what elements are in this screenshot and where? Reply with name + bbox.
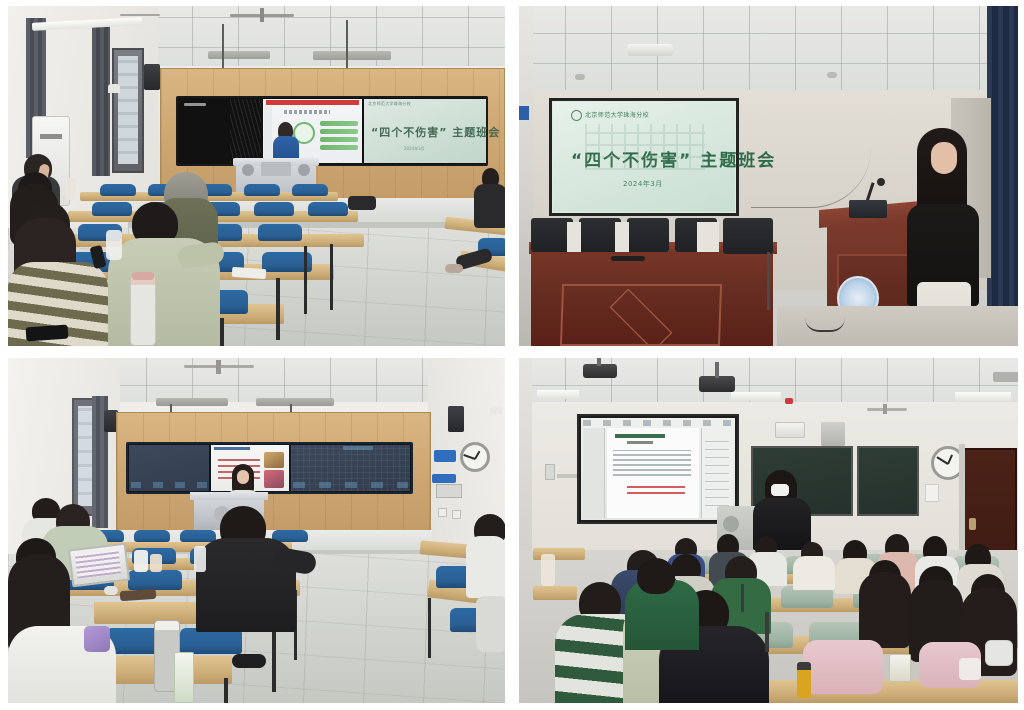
- ac-vent: [40, 134, 62, 139]
- wall-notice: [925, 484, 939, 502]
- screen-right-titlebar: [343, 446, 373, 450]
- desk-leg: [304, 246, 307, 314]
- emergency-light-icon: [785, 398, 793, 404]
- screen-left-arc: [230, 99, 261, 163]
- doc-sidebar-right-rows: [705, 436, 729, 506]
- wall-switch-2[interactable]: [452, 510, 461, 519]
- wall-box: [436, 484, 462, 498]
- chair: [180, 530, 216, 542]
- left-edge-sign: [519, 106, 529, 120]
- photo-top-right[interactable]: 北京师范大学珠海分校 “四个不伤害” 主题班会 2024年3月: [519, 6, 1018, 346]
- shoe: [232, 654, 266, 668]
- slide-image-thumb: [264, 452, 284, 468]
- cup: [134, 550, 148, 572]
- chair: [258, 224, 302, 241]
- screen-right-taskbar: [293, 482, 408, 488]
- ceiling-light-bar: [156, 398, 228, 406]
- ceiling-fan-icon-2: [993, 372, 1018, 382]
- speaker-podium-scene: 北京师范大学珠海分校 “四个不伤害” 主题班会 2024年3月: [519, 6, 1018, 346]
- chair-pad: [567, 222, 581, 252]
- ceiling-light-panel: [731, 392, 781, 401]
- slide-header: 北京师范大学珠海分校: [585, 110, 649, 119]
- desk-leg-2: [741, 584, 744, 612]
- doc-sidebar-left: [583, 428, 605, 518]
- speaker-icon-right: [448, 406, 464, 432]
- laptop-icon: [849, 200, 887, 218]
- presenter-face: [237, 470, 249, 484]
- chair: [128, 570, 182, 590]
- bottle: [797, 662, 811, 698]
- milk-carton: [174, 652, 194, 703]
- instructor-mask: [771, 484, 789, 496]
- water-bottle: [130, 274, 156, 346]
- curtain-left-2: [92, 26, 110, 176]
- wall-sign-blue-2: [432, 474, 456, 483]
- doc-title: [615, 434, 665, 438]
- cup-2: [150, 554, 162, 572]
- slide-header-bar: [266, 100, 359, 105]
- desk-leg-right: [428, 598, 431, 658]
- mouse-icon[interactable]: [104, 586, 118, 595]
- student-leg-right: [476, 596, 505, 652]
- wall-sign-blue: [434, 450, 456, 462]
- desk-leg: [224, 678, 228, 703]
- chair: [723, 218, 773, 254]
- screen-left-logo: [184, 103, 206, 106]
- doc-ribbon: [583, 420, 733, 426]
- chair: [100, 184, 136, 196]
- ceiling-light-panel-2: [955, 392, 1011, 402]
- door-handle[interactable]: [969, 518, 976, 530]
- smoke-detector-icon: [575, 74, 585, 80]
- slide-bullet-bar: [320, 121, 358, 126]
- console-speaker-left: [723, 516, 739, 532]
- screen-right-date: 2024年3月: [404, 146, 425, 152]
- student-hair-long: [859, 572, 911, 648]
- ceiling-light-bar-3: [313, 51, 391, 60]
- chair: [244, 184, 280, 196]
- desk-row-left-2: [533, 586, 577, 600]
- slide-bullet-bar: [320, 129, 358, 134]
- chair-pad: [615, 222, 629, 252]
- classroom-audience-scene: [519, 358, 1018, 703]
- chair: [308, 202, 348, 216]
- small-bottle: [106, 230, 122, 260]
- ceiling-light-bar-2: [256, 398, 334, 406]
- ceiling-light-bar-2: [208, 51, 270, 59]
- cup-2: [959, 658, 981, 680]
- window-glass: [118, 56, 138, 164]
- desk-leg: [330, 244, 333, 310]
- snack-box: [889, 654, 911, 682]
- ceiling-fan-icon: [184, 360, 254, 376]
- backpack: [803, 640, 883, 694]
- ceiling-light-panel-3: [537, 390, 579, 399]
- desk-leg: [220, 318, 224, 346]
- blackboard-right: [857, 446, 919, 516]
- ceiling-fan-icon: [867, 404, 907, 416]
- camera-icon: [108, 84, 120, 93]
- wall-switch[interactable]: [438, 508, 447, 517]
- screen-left-taskbar: [131, 482, 207, 488]
- slide-image-thumb-2: [264, 470, 284, 488]
- speaker-icon: [144, 64, 160, 90]
- phone-on-desk[interactable]: [26, 325, 69, 342]
- photo-bottom-right[interactable]: [519, 358, 1018, 703]
- projector-icon: [583, 364, 617, 378]
- classroom-presentation-scene: [8, 358, 505, 703]
- slide-title-line: [214, 447, 250, 450]
- bottle-cap: [132, 272, 154, 280]
- microphone-on-table: [611, 256, 645, 261]
- lectern-speaker-left: [242, 164, 254, 176]
- snack-pouch: [84, 626, 110, 652]
- desk-leg: [765, 612, 769, 652]
- doc-subtitle: [627, 441, 653, 444]
- chair-leg: [767, 252, 770, 310]
- photo-collage: 北京师范大学珠海分校 “四个不伤害” 主题班会 2024年3月: [0, 0, 1024, 710]
- camera-icon: [490, 406, 502, 414]
- ceiling-light: [627, 44, 673, 56]
- speaker-face: [931, 142, 957, 174]
- doc-highlight-red: [627, 482, 685, 494]
- photo-bottom-left[interactable]: [8, 358, 505, 703]
- air-conditioner: [775, 422, 805, 438]
- chair: [92, 202, 132, 216]
- chair: [134, 530, 170, 542]
- wall-speaker-icon: [821, 422, 845, 446]
- smoke-detector-icon-2: [827, 72, 837, 78]
- small-bottle-2: [66, 178, 76, 200]
- student-body-right: [466, 536, 505, 598]
- bag-on-desk: [348, 196, 376, 210]
- desk-leg: [276, 278, 280, 340]
- screen-right-header: 北京师范大学珠海分校: [368, 101, 411, 107]
- water-bottle-left: [541, 554, 555, 586]
- lectern-speaker-right: [298, 164, 310, 176]
- slide-logo-mark: [571, 110, 582, 121]
- projector-icon-2: [699, 376, 735, 392]
- cup-lid: [985, 640, 1013, 666]
- curtain-right: [987, 6, 1018, 346]
- ceiling-fan-icon: [230, 8, 294, 24]
- ceiling: [519, 6, 1018, 94]
- doc-body-text: [613, 450, 691, 476]
- photo-top-left[interactable]: 北京师范大学珠海分校 “四个不伤害” 主题班会 2024年3月: [8, 6, 505, 346]
- student: [637, 558, 675, 594]
- student-body: [793, 556, 835, 590]
- projector-mount: [597, 358, 601, 366]
- slide-bullet-bar: [320, 137, 358, 142]
- chair: [254, 202, 294, 216]
- wall-pipe: [557, 474, 577, 478]
- slide-bullet-bar: [320, 145, 358, 150]
- microphone-head: [877, 178, 885, 186]
- lectern-top: [190, 492, 268, 500]
- projector-mount-2: [715, 362, 719, 378]
- slide-watermark: [585, 124, 705, 170]
- shoe: [445, 264, 463, 273]
- slide-sidebar: [264, 106, 272, 162]
- chair: [292, 184, 328, 196]
- screen-right-title: “四个不伤害” 主题班会: [371, 124, 500, 140]
- lecture-hall-scene: 北京师范大学珠海分校 “四个不伤害” 主题班会 2024年3月: [8, 6, 505, 346]
- slide-subtitle: [284, 110, 330, 114]
- lectern-monitor: [261, 162, 291, 176]
- wall-mount-bracket: [545, 464, 555, 480]
- slide-date: 2024年3月: [623, 179, 663, 189]
- student-body: [474, 184, 505, 228]
- bottle: [194, 546, 206, 572]
- chair-pad: [697, 222, 719, 252]
- chair: [627, 218, 669, 252]
